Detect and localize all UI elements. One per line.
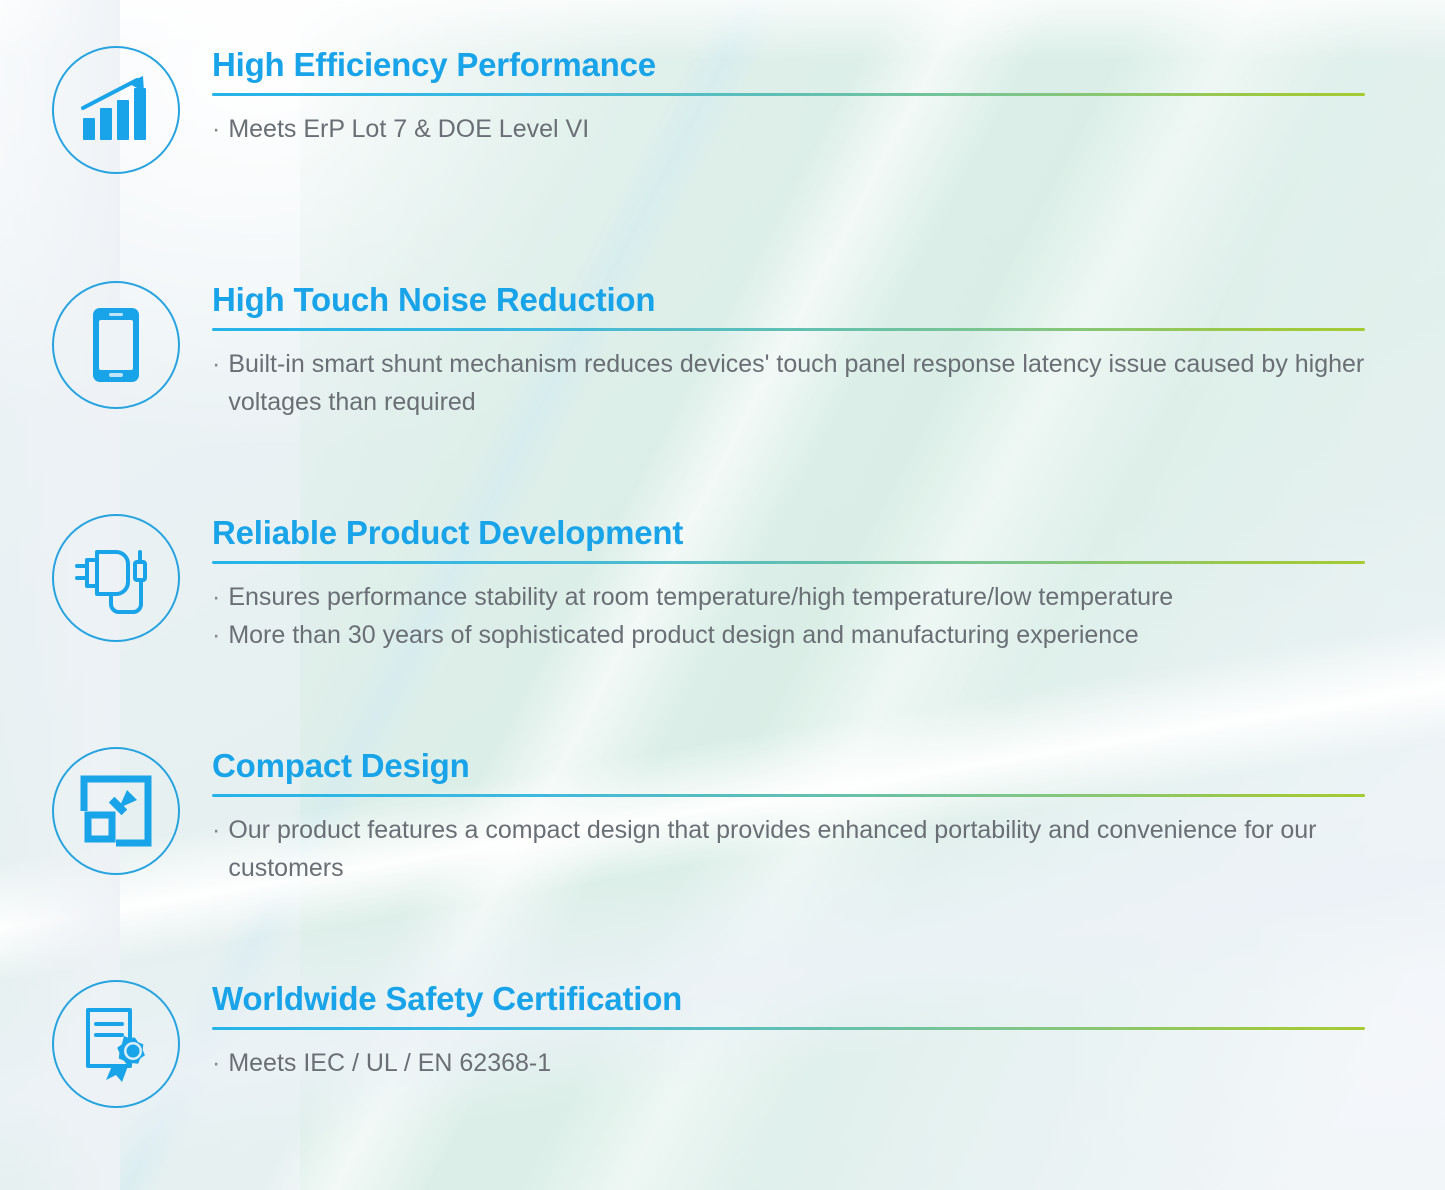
feature-body: Compact Design · Our product features a …: [212, 747, 1417, 887]
feature-divider: [212, 794, 1365, 797]
feature-body: Worldwide Safety Certification · Meets I…: [212, 980, 1417, 1082]
bullet-marker: ·: [212, 578, 220, 616]
feature-item-worldwide-safety-certification: Worldwide Safety Certification · Meets I…: [52, 980, 1417, 1108]
feature-bullets: · Our product features a compact design …: [212, 811, 1417, 887]
feature-item-reliable-product-development: Reliable Product Development · Ensures p…: [52, 514, 1417, 654]
feature-divider: [212, 1027, 1365, 1030]
bullet-marker: ·: [212, 1044, 220, 1082]
feature-title: High Efficiency Performance: [212, 46, 1417, 84]
feature-item-high-touch-noise-reduction: High Touch Noise Reduction · Built-in sm…: [52, 281, 1417, 421]
compact-resize-icon: [52, 747, 180, 875]
bullet-text: Meets IEC / UL / EN 62368-1: [228, 1044, 1417, 1082]
feature-title: Reliable Product Development: [212, 514, 1417, 552]
certificate-seal-icon: [52, 980, 180, 1108]
feature-divider: [212, 328, 1365, 331]
feature-bullets: · Built-in smart shunt mechanism reduces…: [212, 345, 1417, 421]
feature-bullets: · Meets IEC / UL / EN 62368-1: [212, 1044, 1417, 1082]
feature-body: High Efficiency Performance · Meets ErP …: [212, 46, 1417, 148]
feature-item-high-efficiency-performance: High Efficiency Performance · Meets ErP …: [52, 46, 1417, 174]
bullet-item: · More than 30 years of sophisticated pr…: [212, 616, 1417, 654]
bullet-text: Built-in smart shunt mechanism reduces d…: [228, 345, 1417, 421]
bullet-item: · Ensures performance stability at room …: [212, 578, 1417, 616]
feature-bullets: · Ensures performance stability at room …: [212, 578, 1417, 654]
feature-divider: [212, 93, 1365, 96]
bullet-marker: ·: [212, 110, 220, 148]
bullet-text: More than 30 years of sophisticated prod…: [228, 616, 1417, 654]
feature-body: Reliable Product Development · Ensures p…: [212, 514, 1417, 654]
feature-highlights-page: High Efficiency Performance · Meets ErP …: [0, 0, 1445, 1190]
feature-title: High Touch Noise Reduction: [212, 281, 1417, 319]
feature-title: Compact Design: [212, 747, 1417, 785]
bullet-item: · Meets ErP Lot 7 & DOE Level VI: [212, 110, 1417, 148]
feature-title: Worldwide Safety Certification: [212, 980, 1417, 1018]
feature-body: High Touch Noise Reduction · Built-in sm…: [212, 281, 1417, 421]
bullet-text: Ensures performance stability at room te…: [228, 578, 1417, 616]
feature-divider: [212, 561, 1365, 564]
bullet-item: · Meets IEC / UL / EN 62368-1: [212, 1044, 1417, 1082]
bullet-marker: ·: [212, 345, 220, 421]
smartphone-icon: [52, 281, 180, 409]
bullet-marker: ·: [212, 616, 220, 654]
bullet-text: Our product features a compact design th…: [228, 811, 1417, 887]
bullet-marker: ·: [212, 811, 220, 887]
feature-bullets: · Meets ErP Lot 7 & DOE Level VI: [212, 110, 1417, 148]
feature-item-compact-design: Compact Design · Our product features a …: [52, 747, 1417, 887]
bullet-item: · Built-in smart shunt mechanism reduces…: [212, 345, 1417, 421]
power-adapter-icon: [52, 514, 180, 642]
bar-chart-growth-icon: [52, 46, 180, 174]
bullet-item: · Our product features a compact design …: [212, 811, 1417, 887]
bullet-text: Meets ErP Lot 7 & DOE Level VI: [228, 110, 1417, 148]
